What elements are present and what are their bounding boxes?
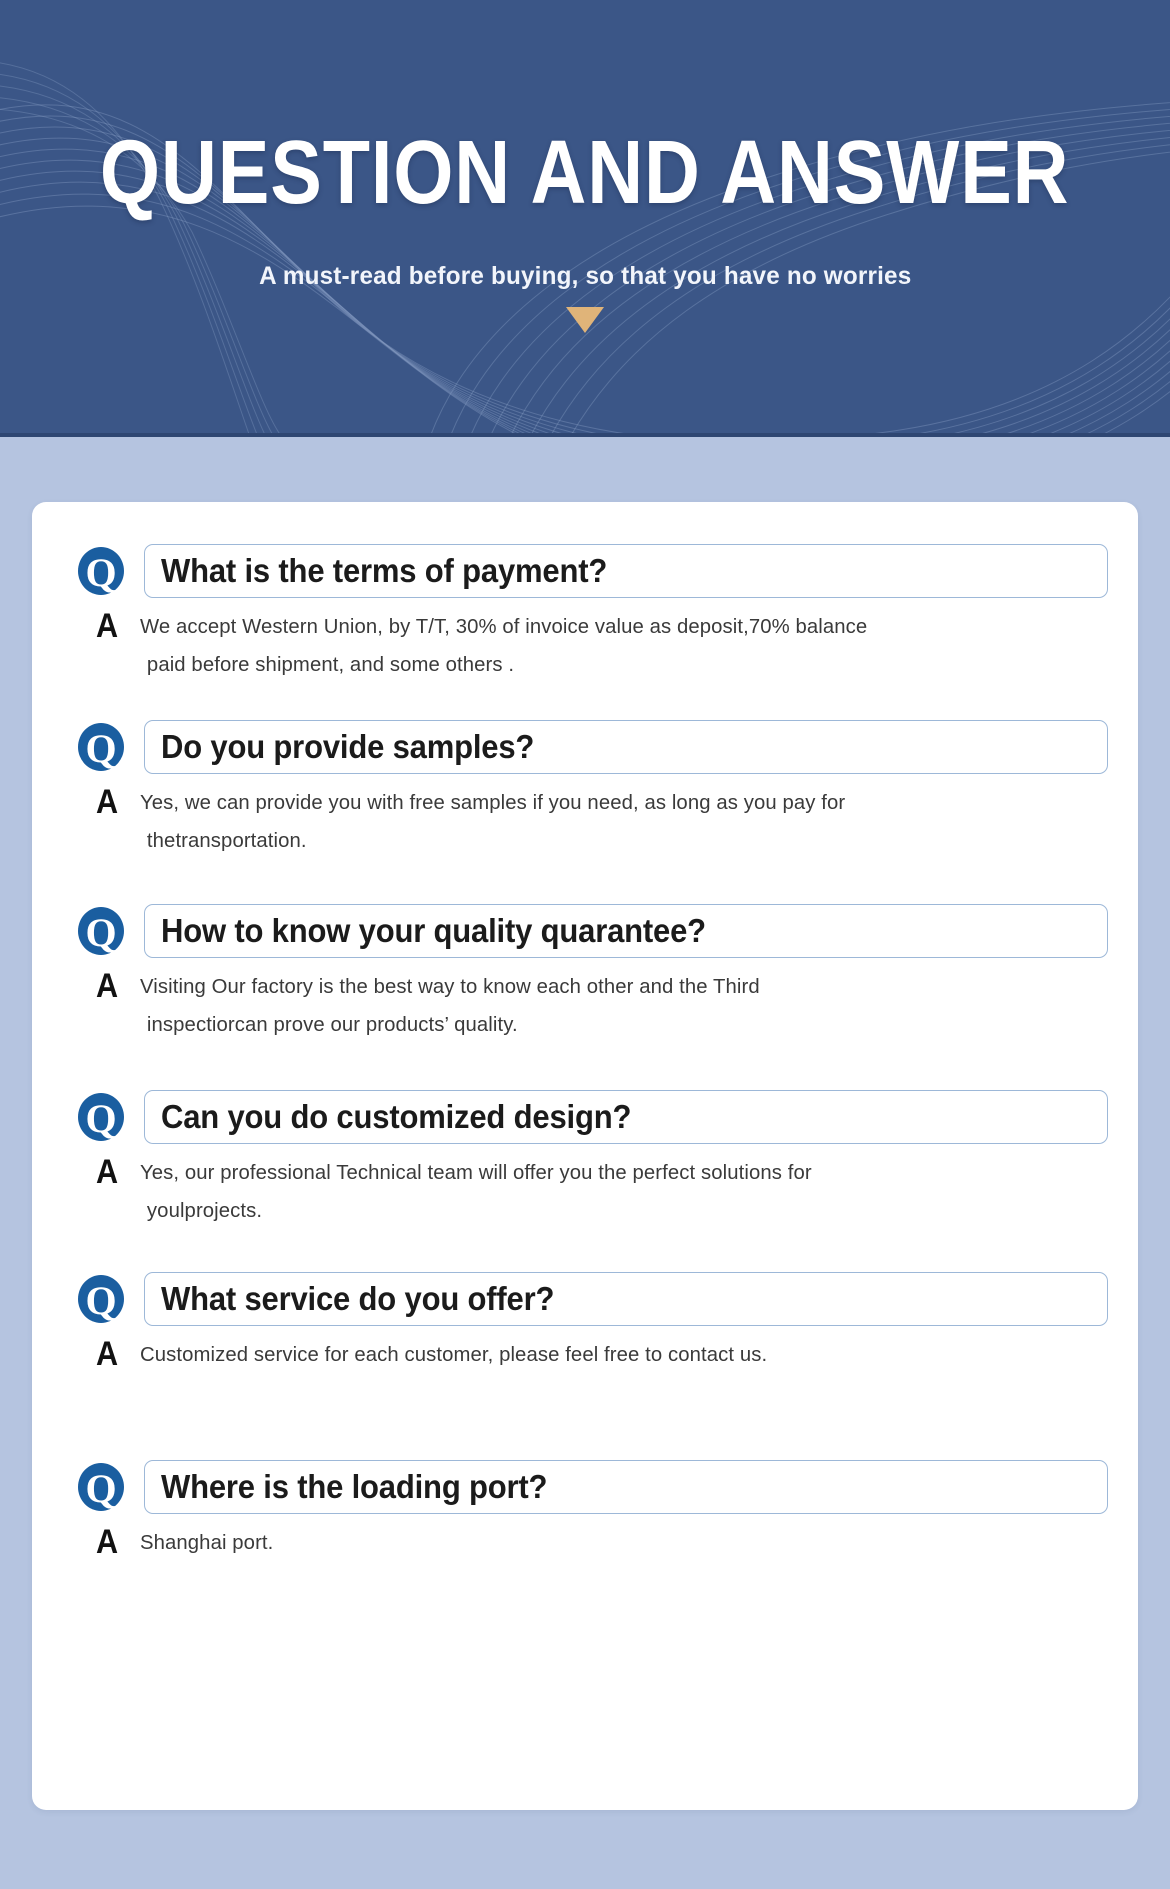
page-title: QUESTION AND ANSWER <box>100 128 1070 218</box>
answer-row: A Shanghai port. <box>72 1524 1108 1562</box>
faq-item: Q What service do you offer? A Customize… <box>32 1272 1138 1374</box>
header-bottom-rule <box>0 433 1170 437</box>
question-box[interactable]: What is the terms of payment? <box>144 544 1108 598</box>
svg-text:Q: Q <box>85 550 116 595</box>
answer-text: We accept Western Union, by T/T, 30% of … <box>140 608 1090 684</box>
question-text: Do you provide samples? <box>161 728 534 766</box>
question-badge-icon: Q <box>72 1462 130 1512</box>
answer-line-2: youlprojects. <box>140 1192 1090 1230</box>
answer-line-1: Yes, we can provide you with free sample… <box>140 791 845 814</box>
question-badge-icon: Q <box>72 546 130 596</box>
answer-row: A Yes, we can provide you with free samp… <box>72 784 1108 860</box>
svg-text:Q: Q <box>85 726 116 771</box>
content-area: Q What is the terms of payment? A We acc… <box>0 437 1170 1889</box>
answer-badge: A <box>86 1154 127 1190</box>
answer-text: Visiting Our factory is the best way to … <box>140 968 1090 1044</box>
answer-badge: A <box>86 1336 127 1372</box>
question-box[interactable]: How to know your quality quarantee? <box>144 904 1108 958</box>
faq-item: Q Where is the loading port? A Shanghai … <box>32 1460 1138 1562</box>
answer-badge: A <box>86 784 127 820</box>
answer-line-2: inspectiorcan prove our products’ qualit… <box>140 1006 1090 1044</box>
question-text: Where is the loading port? <box>161 1468 547 1506</box>
question-text: What is the terms of payment? <box>161 552 607 590</box>
faq-item: Q Can you do customized design? A Yes, o… <box>32 1090 1138 1230</box>
answer-row: A Customized service for each customer, … <box>72 1336 1108 1374</box>
question-row[interactable]: Q Do you provide samples? <box>72 720 1108 774</box>
page-subtitle: A must-read before buying, so that you h… <box>259 262 911 291</box>
answer-text: Yes, our professional Technical team wil… <box>140 1154 1090 1230</box>
faq-item: Q How to know your quality quarantee? A … <box>32 904 1138 1044</box>
svg-text:Q: Q <box>85 910 116 955</box>
question-badge-icon: Q <box>72 722 130 772</box>
question-row[interactable]: Q What is the terms of payment? <box>72 544 1108 598</box>
answer-row: A Visiting Our factory is the best way t… <box>72 968 1108 1044</box>
answer-line-1: Yes, our professional Technical team wil… <box>140 1161 812 1184</box>
question-row[interactable]: Q Where is the loading port? <box>72 1460 1108 1514</box>
question-row[interactable]: Q Can you do customized design? <box>72 1090 1108 1144</box>
triangle-down-icon <box>566 307 604 333</box>
faq-item: Q What is the terms of payment? A We acc… <box>32 544 1138 684</box>
faq-item: Q Do you provide samples? A Yes, we can … <box>32 720 1138 860</box>
question-badge-icon: Q <box>72 906 130 956</box>
answer-row: A We accept Western Union, by T/T, 30% o… <box>72 608 1108 684</box>
question-box[interactable]: What service do you offer? <box>144 1272 1108 1326</box>
answer-badge: A <box>86 608 127 644</box>
question-box[interactable]: Do you provide samples? <box>144 720 1108 774</box>
answer-text: Yes, we can provide you with free sample… <box>140 784 1090 860</box>
answer-text: Customized service for each customer, pl… <box>140 1336 1090 1374</box>
page-header: QUESTION AND ANSWER A must-read before b… <box>0 0 1170 437</box>
answer-line-1: Shanghai port. <box>140 1531 273 1554</box>
answer-badge: A <box>86 968 127 1004</box>
question-row[interactable]: Q How to know your quality quarantee? <box>72 904 1108 958</box>
answer-line-1: Customized service for each customer, pl… <box>140 1343 767 1366</box>
faq-list: Q What is the terms of payment? A We acc… <box>32 502 1138 1562</box>
svg-text:Q: Q <box>85 1278 116 1323</box>
answer-line-1: Visiting Our factory is the best way to … <box>140 975 760 998</box>
svg-text:Q: Q <box>85 1096 116 1141</box>
faq-card: Q What is the terms of payment? A We acc… <box>32 502 1138 1810</box>
question-text: Can you do customized design? <box>161 1098 631 1136</box>
answer-badge: A <box>86 1524 127 1560</box>
answer-line-1: We accept Western Union, by T/T, 30% of … <box>140 615 867 638</box>
answer-row: A Yes, our professional Technical team w… <box>72 1154 1108 1230</box>
question-row[interactable]: Q What service do you offer? <box>72 1272 1108 1326</box>
answer-line-2: thetransportation. <box>140 822 1090 860</box>
answer-line-2: paid before shipment, and some others . <box>140 646 1090 684</box>
question-text: How to know your quality quarantee? <box>161 912 706 950</box>
answer-text: Shanghai port. <box>140 1524 1090 1562</box>
svg-text:Q: Q <box>85 1466 116 1511</box>
question-box[interactable]: Can you do customized design? <box>144 1090 1108 1144</box>
question-box[interactable]: Where is the loading port? <box>144 1460 1108 1514</box>
question-badge-icon: Q <box>72 1092 130 1142</box>
question-text: What service do you offer? <box>161 1280 554 1318</box>
question-badge-icon: Q <box>72 1274 130 1324</box>
